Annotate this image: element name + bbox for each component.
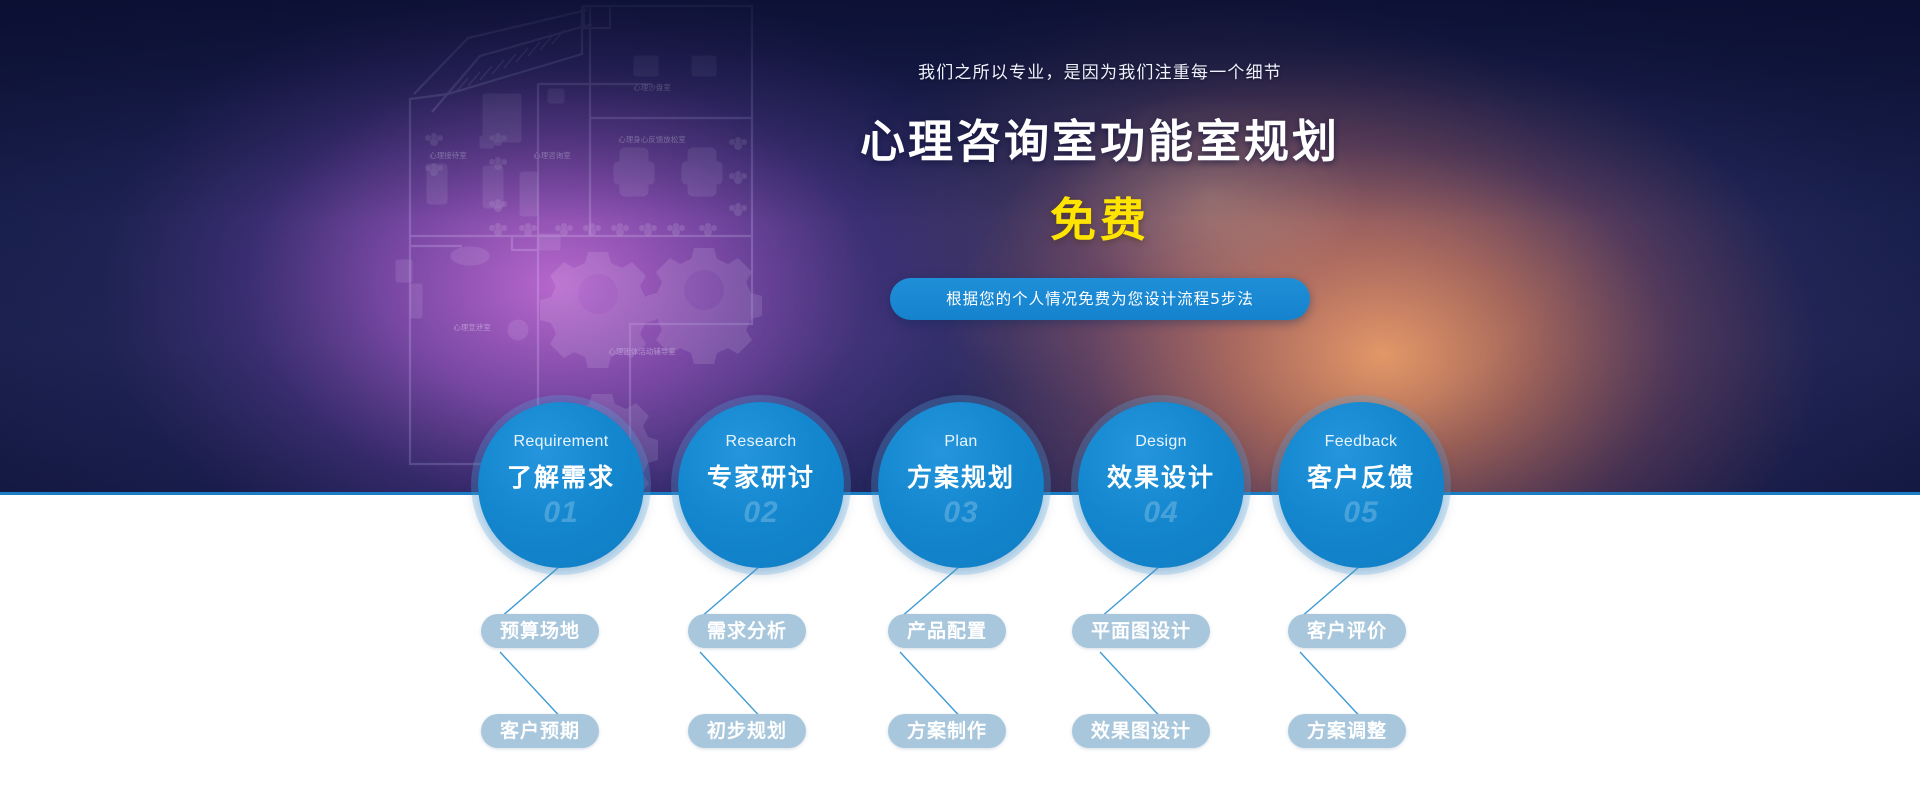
tag-pill-4-2[interactable]: 效果图设计 bbox=[1072, 714, 1210, 748]
tag-pill-5-2[interactable]: 方案调整 bbox=[1288, 714, 1406, 748]
step-circle-1[interactable]: Requirement 了解需求 01 bbox=[478, 402, 644, 568]
tag-pill-2-2[interactable]: 初步规划 bbox=[688, 714, 806, 748]
step-cn-label: 客户反馈 bbox=[1278, 458, 1444, 494]
step-cn-label: 效果设计 bbox=[1078, 458, 1244, 494]
step-en-label: Requirement bbox=[478, 433, 644, 451]
step-number: 01 bbox=[478, 496, 644, 530]
step-circle-2[interactable]: Research 专家研讨 02 bbox=[678, 402, 844, 568]
hero-banner: 心理沙盘室 心理身心反馈放松室 心理接待室 心理咨询室 心理宣泄室 心理团体活动… bbox=[0, 0, 1920, 810]
headline-block: 我们之所以专业，是因为我们注重每一个细节 心理咨询室功能室规划 免费 根据您的个… bbox=[780, 58, 1420, 320]
step-number: 02 bbox=[678, 496, 844, 530]
step-cn-label: 方案规划 bbox=[878, 458, 1044, 494]
step-number: 03 bbox=[878, 496, 1044, 530]
page-title: 心理咨询室功能室规划 bbox=[780, 105, 1420, 170]
tag-pill-3-1[interactable]: 产品配置 bbox=[888, 614, 1006, 648]
step-en-label: Feedback bbox=[1278, 433, 1444, 451]
step-circle-4[interactable]: Design 效果设计 04 bbox=[1078, 402, 1244, 568]
tag-pill-2-1[interactable]: 需求分析 bbox=[688, 614, 806, 648]
tag-pill-4-1[interactable]: 平面图设计 bbox=[1072, 614, 1210, 648]
free-highlight: 免费 bbox=[780, 184, 1420, 250]
cta-button[interactable]: 根据您的个人情况免费为您设计流程5步法 bbox=[890, 278, 1310, 320]
tag-pill-3-2[interactable]: 方案制作 bbox=[888, 714, 1006, 748]
step-en-label: Research bbox=[678, 433, 844, 451]
step-circle-3[interactable]: Plan 方案规划 03 bbox=[878, 402, 1044, 568]
tag-pill-5-1[interactable]: 客户评价 bbox=[1288, 614, 1406, 648]
hero-subtitle: 我们之所以专业，是因为我们注重每一个细节 bbox=[780, 58, 1420, 83]
step-en-label: Design bbox=[1078, 433, 1244, 451]
step-cn-label: 了解需求 bbox=[478, 458, 644, 494]
step-en-label: Plan bbox=[878, 433, 1044, 451]
step-circle-5[interactable]: Feedback 客户反馈 05 bbox=[1278, 402, 1444, 568]
tag-pill-1-1[interactable]: 预算场地 bbox=[481, 614, 599, 648]
step-number: 04 bbox=[1078, 496, 1244, 530]
step-number: 05 bbox=[1278, 496, 1444, 530]
tag-pill-1-2[interactable]: 客户预期 bbox=[481, 714, 599, 748]
step-cn-label: 专家研讨 bbox=[678, 458, 844, 494]
